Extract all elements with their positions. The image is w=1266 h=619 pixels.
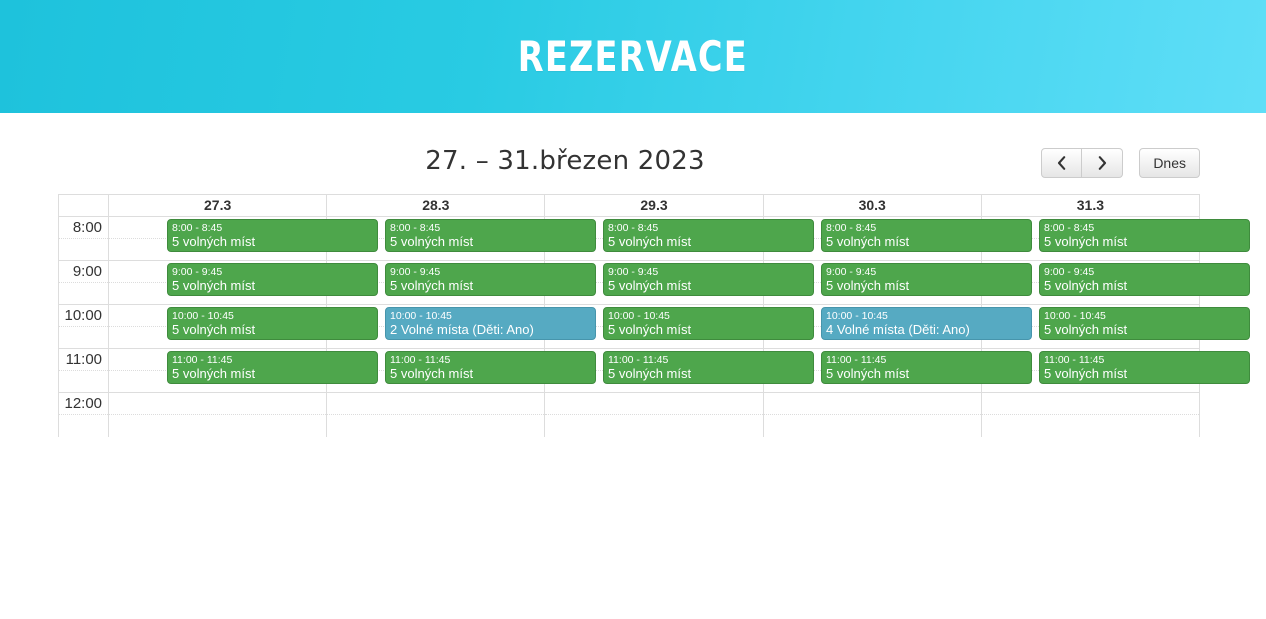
event-label: 5 volných míst [608,322,813,338]
calendar-event[interactable]: 8:00 - 8:455 volných míst [385,219,596,252]
event-time: 9:00 - 9:45 [826,266,1031,278]
calendar-event[interactable]: 10:00 - 10:455 volných míst [167,307,378,340]
time-label-2: 10:00 [59,305,109,327]
event-time: 9:00 - 9:45 [390,266,595,278]
event-label: 5 volných míst [1044,322,1249,338]
day-header-1: 28.3 [327,195,545,217]
day-slot-cell[interactable] [327,393,545,415]
day-header-3: 30.3 [763,195,981,217]
event-time: 8:00 - 8:45 [390,222,595,234]
event-time: 8:00 - 8:45 [826,222,1031,234]
day-slot-cell[interactable] [763,415,981,437]
time-spacer [59,283,109,305]
time-spacer [59,327,109,349]
event-label: 5 volných míst [1044,278,1249,294]
time-spacer [59,239,109,261]
calendar-toolbar: 27. – 31.březen 2023 Dnes [0,113,1266,191]
time-label-4: 12:00 [59,393,109,415]
event-time: 10:00 - 10:45 [1044,310,1249,322]
event-time: 9:00 - 9:45 [172,266,377,278]
event-label: 5 volných míst [826,366,1031,382]
event-label: 5 volných míst [608,234,813,250]
event-label: 5 volných míst [172,366,377,382]
event-time: 11:00 - 11:45 [390,354,595,366]
event-time: 9:00 - 9:45 [1044,266,1249,278]
event-label: 2 Volné místa (Děti: Ano) [390,322,595,338]
day-slot-cell[interactable] [327,415,545,437]
day-slot-cell[interactable] [763,393,981,415]
calendar-event[interactable]: 11:00 - 11:455 volných míst [603,351,814,384]
time-label-0: 8:00 [59,217,109,239]
time-spacer [59,415,109,437]
navigation-cluster: Dnes [1041,148,1200,178]
calendar-row [59,415,1200,437]
calendar-event[interactable]: 8:00 - 8:455 volných míst [821,219,1032,252]
calendar-event[interactable]: 9:00 - 9:455 volných míst [821,263,1032,296]
time-spacer [59,371,109,393]
today-button[interactable]: Dnes [1139,148,1200,178]
calendar-header-row: 27.328.329.330.331.3 [59,195,1200,217]
event-time: 8:00 - 8:45 [608,222,813,234]
day-slot-cell[interactable] [545,393,763,415]
calendar-event[interactable]: 11:00 - 11:455 volných míst [821,351,1032,384]
calendar-event[interactable]: 10:00 - 10:452 Volné místa (Děti: Ano) [385,307,596,340]
calendar-event[interactable]: 10:00 - 10:454 Volné místa (Děti: Ano) [821,307,1032,340]
event-label: 5 volných míst [608,278,813,294]
prev-next-button-group [1041,148,1123,178]
event-label: 5 volných míst [172,278,377,294]
event-time: 11:00 - 11:45 [172,354,377,366]
event-time: 11:00 - 11:45 [826,354,1031,366]
calendar-event[interactable]: 10:00 - 10:455 volných míst [603,307,814,340]
event-label: 5 volných míst [1044,234,1249,250]
calendar-event[interactable]: 8:00 - 8:455 volných míst [167,219,378,252]
event-label: 5 volných míst [172,234,377,250]
event-time: 11:00 - 11:45 [1044,354,1249,366]
day-slot-cell[interactable] [981,415,1199,437]
page-title: REZERVACE [518,36,748,78]
event-time: 10:00 - 10:45 [826,310,1031,322]
day-slot-cell[interactable] [109,393,327,415]
time-column-header [59,195,109,217]
event-label: 5 volných míst [608,366,813,382]
event-time: 11:00 - 11:45 [608,354,813,366]
calendar-event[interactable]: 11:00 - 11:455 volných míst [1039,351,1250,384]
time-label-3: 11:00 [59,349,109,371]
chevron-right-icon [1097,156,1108,170]
day-header-4: 31.3 [981,195,1199,217]
time-label-1: 9:00 [59,261,109,283]
calendar-event[interactable]: 11:00 - 11:455 volných míst [167,351,378,384]
event-label: 5 volných míst [826,278,1031,294]
chevron-left-icon [1056,156,1067,170]
next-week-button[interactable] [1082,148,1123,178]
calendar-event[interactable]: 10:00 - 10:455 volných míst [1039,307,1250,340]
calendar-event[interactable]: 8:00 - 8:455 volných míst [1039,219,1250,252]
day-slot-cell[interactable] [545,415,763,437]
event-time: 10:00 - 10:45 [390,310,595,322]
event-time: 9:00 - 9:45 [608,266,813,278]
event-label: 5 volných míst [1044,366,1249,382]
event-time: 8:00 - 8:45 [172,222,377,234]
calendar-event[interactable]: 9:00 - 9:455 volných míst [167,263,378,296]
event-label: 4 Volné místa (Děti: Ano) [826,322,1031,338]
calendar-grid: 27.328.329.330.331.3 8:009:0010:0011:001… [58,194,1200,437]
event-time: 10:00 - 10:45 [608,310,813,322]
calendar-event[interactable]: 9:00 - 9:455 volných míst [1039,263,1250,296]
calendar-row: 12:00 [59,393,1200,415]
day-slot-cell[interactable] [109,415,327,437]
page-banner: REZERVACE [0,0,1266,113]
event-label: 5 volných míst [390,278,595,294]
day-header-2: 29.3 [545,195,763,217]
event-label: 5 volných míst [390,366,595,382]
calendar-event[interactable]: 8:00 - 8:455 volných míst [603,219,814,252]
day-header-0: 27.3 [109,195,327,217]
event-time: 8:00 - 8:45 [1044,222,1249,234]
calendar-event[interactable]: 9:00 - 9:455 volných míst [603,263,814,296]
calendar-event[interactable]: 11:00 - 11:455 volných míst [385,351,596,384]
calendar-event[interactable]: 9:00 - 9:455 volných míst [385,263,596,296]
event-time: 10:00 - 10:45 [172,310,377,322]
event-label: 5 volných míst [390,234,595,250]
event-label: 5 volných míst [826,234,1031,250]
event-label: 5 volných míst [172,322,377,338]
previous-week-button[interactable] [1041,148,1082,178]
day-slot-cell[interactable] [981,393,1199,415]
